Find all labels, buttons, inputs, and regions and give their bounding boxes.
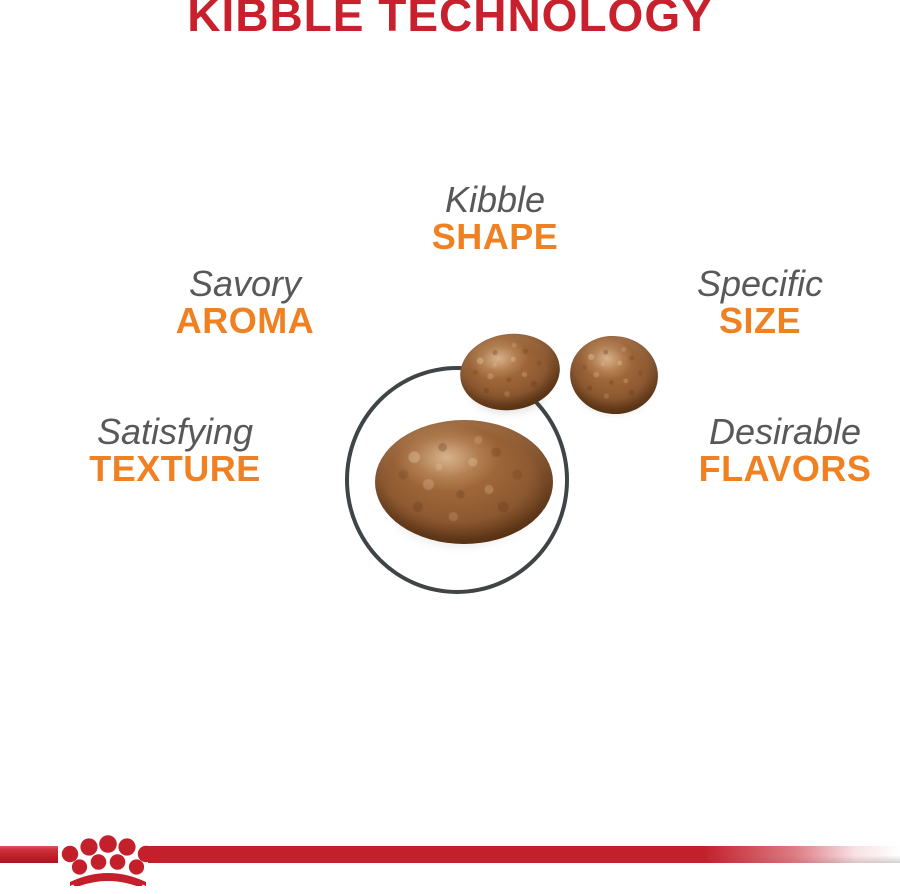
- feature-keyword-flavors: FLAVORS: [665, 451, 900, 488]
- footer-bar-left: [0, 846, 58, 863]
- feature-prefix-texture: Satisfying: [60, 414, 290, 451]
- feature-prefix-shape: Kibble: [370, 182, 620, 219]
- feature-keyword-shape: SHAPE: [370, 219, 620, 256]
- feature-prefix-flavors: Desirable: [665, 414, 900, 451]
- page-title: KIBBLE TECHNOLOGY: [0, 0, 900, 42]
- feature-label-texture: Satisfying TEXTURE: [60, 414, 290, 487]
- kibble-illustration: [320, 320, 700, 620]
- feature-prefix-aroma: Savory: [130, 266, 360, 303]
- kibble-technology-infographic: KIBBLE TECHNOLOGY Kibble SHAPE Savory AR…: [0, 0, 900, 894]
- feature-label-flavors: Desirable FLAVORS: [665, 414, 900, 487]
- royal-canin-crown-icon: [60, 822, 156, 886]
- feature-prefix-size: Specific: [645, 266, 875, 303]
- feature-label-shape: Kibble SHAPE: [370, 182, 620, 255]
- footer-bar-right: [148, 846, 900, 863]
- brand-footer: [0, 820, 900, 894]
- feature-keyword-texture: TEXTURE: [60, 451, 290, 488]
